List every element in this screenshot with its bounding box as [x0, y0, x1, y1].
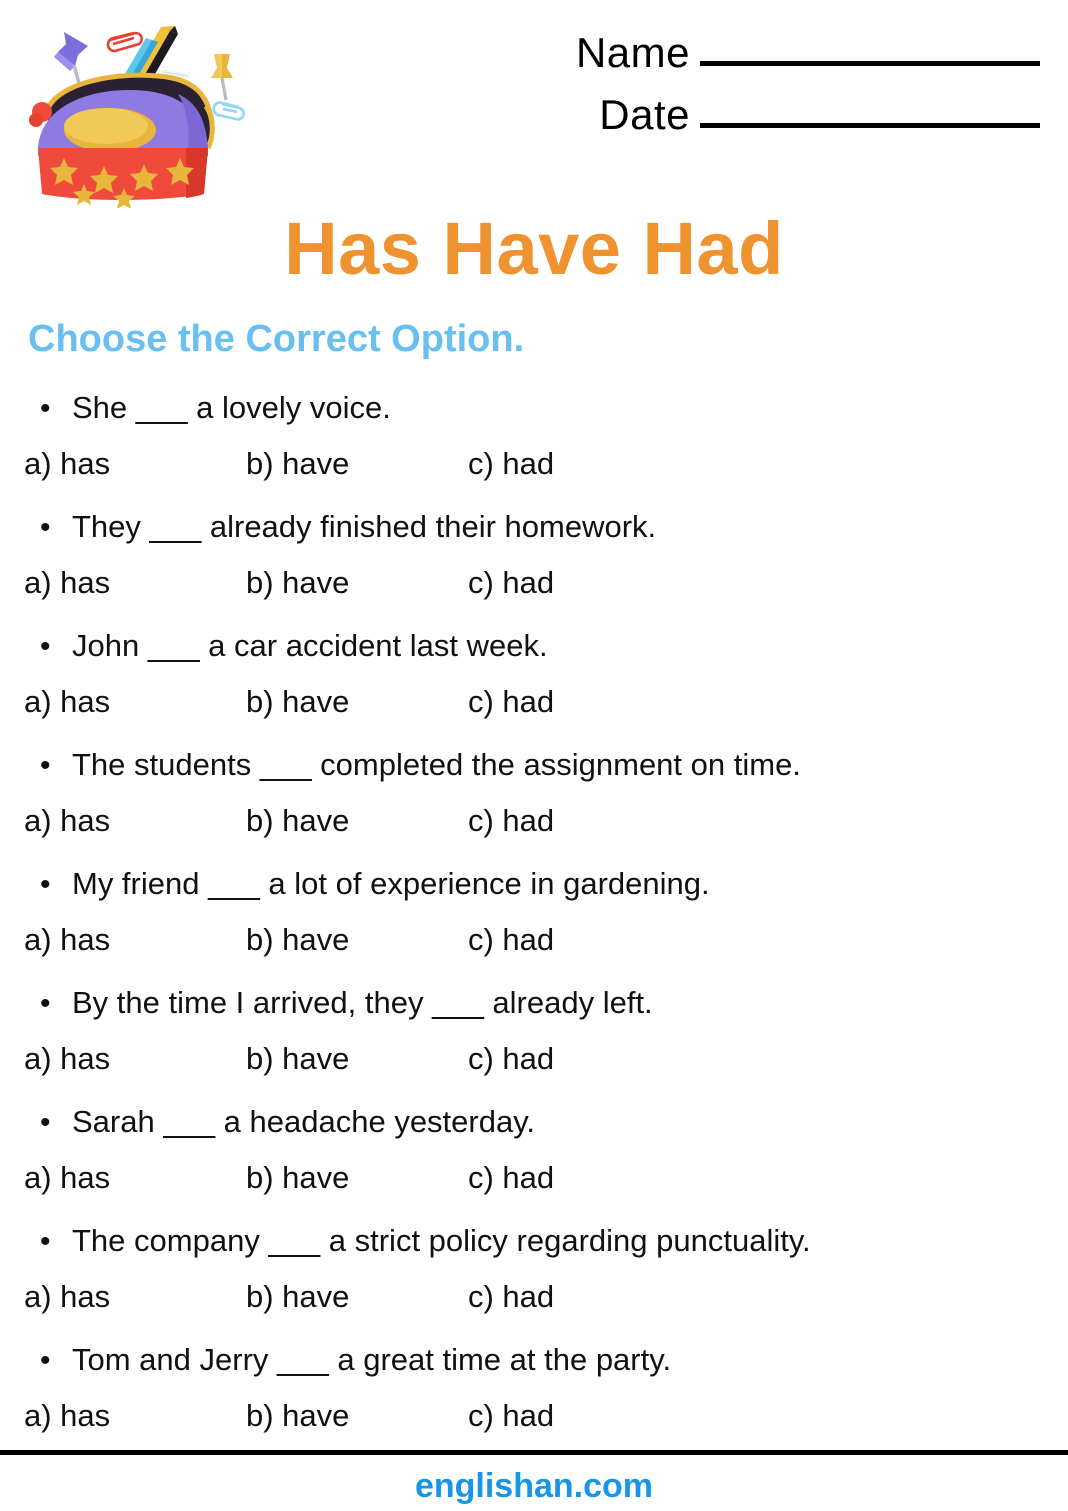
- bullet-icon: •: [40, 508, 72, 548]
- options-row: a) hasb) havec) had: [0, 1277, 1068, 1333]
- option-choice[interactable]: b) have: [246, 1277, 468, 1333]
- option-choice[interactable]: c) had: [468, 801, 690, 857]
- question-text: By the time I arrived, they ___ already …: [72, 983, 653, 1023]
- question-text: She ___ a lovely voice.: [72, 388, 391, 428]
- question-block: •My friend ___ a lot of experience in ga…: [0, 864, 1068, 983]
- bullet-icon: •: [40, 1222, 72, 1262]
- option-choice[interactable]: c) had: [468, 563, 690, 619]
- question-line: •John ___ a car accident last week.: [0, 626, 1068, 682]
- question-block: •By the time I arrived, they ___ already…: [0, 983, 1068, 1102]
- question-block: •She ___ a lovely voice.a) hasb) havec) …: [0, 388, 1068, 507]
- bullet-icon: •: [40, 389, 72, 429]
- question-text: They ___ already finished their homework…: [72, 507, 656, 547]
- question-line: •The students ___ completed the assignme…: [0, 745, 1068, 801]
- question-block: •The company ___ a strict policy regardi…: [0, 1221, 1068, 1340]
- option-choice[interactable]: a) has: [24, 1396, 246, 1452]
- option-choice[interactable]: a) has: [24, 1158, 246, 1214]
- bullet-icon: •: [40, 984, 72, 1024]
- bullet-icon: •: [40, 1103, 72, 1143]
- page-title: Has Have Had: [0, 206, 1068, 292]
- question-text: Tom and Jerry ___ a great time at the pa…: [72, 1340, 671, 1380]
- question-line: •The company ___ a strict policy regardi…: [0, 1221, 1068, 1277]
- name-field-row: Name: [520, 14, 1040, 76]
- option-choice[interactable]: b) have: [246, 1158, 468, 1214]
- question-block: •The students ___ completed the assignme…: [0, 745, 1068, 864]
- option-choice[interactable]: c) had: [468, 1158, 690, 1214]
- option-choice[interactable]: c) had: [468, 920, 690, 976]
- options-row: a) hasb) havec) had: [0, 1039, 1068, 1095]
- question-text: The company ___ a strict policy regardin…: [72, 1221, 811, 1261]
- options-row: a) hasb) havec) had: [0, 444, 1068, 500]
- option-choice[interactable]: a) has: [24, 1277, 246, 1333]
- bullet-icon: •: [40, 627, 72, 667]
- option-choice[interactable]: a) has: [24, 1039, 246, 1095]
- name-date-fields: Name Date: [520, 14, 1040, 138]
- question-block: •They ___ already finished their homewor…: [0, 507, 1068, 626]
- option-choice[interactable]: c) had: [468, 1039, 690, 1095]
- question-block: •Sarah ___ a headache yesterday.a) hasb)…: [0, 1102, 1068, 1221]
- option-choice[interactable]: a) has: [24, 444, 246, 500]
- site-credit[interactable]: englishan.com: [0, 1466, 1068, 1506]
- question-line: •She ___ a lovely voice.: [0, 388, 1068, 444]
- question-text: Sarah ___ a headache yesterday.: [72, 1102, 535, 1142]
- questions-list: •She ___ a lovely voice.a) hasb) havec) …: [0, 388, 1068, 1459]
- option-choice[interactable]: c) had: [468, 444, 690, 500]
- option-choice[interactable]: b) have: [246, 444, 468, 500]
- bullet-icon: •: [40, 746, 72, 786]
- question-block: •Tom and Jerry ___ a great time at the p…: [0, 1340, 1068, 1459]
- option-choice[interactable]: b) have: [246, 920, 468, 976]
- footer-divider: [0, 1450, 1068, 1455]
- options-row: a) hasb) havec) had: [0, 801, 1068, 857]
- paperclip-red-icon: [108, 33, 142, 51]
- option-choice[interactable]: c) had: [468, 1396, 690, 1452]
- question-text: My friend ___ a lot of experience in gar…: [72, 864, 710, 904]
- name-label: Name: [576, 30, 700, 76]
- option-choice[interactable]: c) had: [468, 682, 690, 738]
- pushpin-yellow-icon: [211, 54, 233, 100]
- option-choice[interactable]: a) has: [24, 920, 246, 976]
- option-choice[interactable]: c) had: [468, 1277, 690, 1333]
- option-choice[interactable]: b) have: [246, 1396, 468, 1452]
- question-line: •They ___ already finished their homewor…: [0, 507, 1068, 563]
- option-choice[interactable]: a) has: [24, 801, 246, 857]
- question-text: The students ___ completed the assignmen…: [72, 745, 801, 785]
- date-label: Date: [599, 92, 700, 138]
- bullet-icon: •: [40, 1341, 72, 1381]
- options-row: a) hasb) havec) had: [0, 682, 1068, 738]
- question-line: •By the time I arrived, they ___ already…: [0, 983, 1068, 1039]
- name-input-line[interactable]: [700, 61, 1040, 66]
- worksheet-header: Name Date: [0, 0, 1068, 200]
- date-input-line[interactable]: [700, 123, 1040, 128]
- option-choice[interactable]: b) have: [246, 682, 468, 738]
- bullet-icon: •: [40, 865, 72, 905]
- option-choice[interactable]: b) have: [246, 1039, 468, 1095]
- question-text: John ___ a car accident last week.: [72, 626, 548, 666]
- option-choice[interactable]: a) has: [24, 563, 246, 619]
- options-row: a) hasb) havec) had: [0, 1396, 1068, 1452]
- pushpin-purple-icon: [54, 32, 88, 87]
- option-choice[interactable]: b) have: [246, 563, 468, 619]
- question-line: •Tom and Jerry ___ a great time at the p…: [0, 1340, 1068, 1396]
- options-row: a) hasb) havec) had: [0, 920, 1068, 976]
- option-choice[interactable]: b) have: [246, 801, 468, 857]
- question-line: •Sarah ___ a headache yesterday.: [0, 1102, 1068, 1158]
- option-choice[interactable]: a) has: [24, 682, 246, 738]
- question-line: •My friend ___ a lot of experience in ga…: [0, 864, 1068, 920]
- question-block: •John ___ a car accident last week.a) ha…: [0, 626, 1068, 745]
- options-row: a) hasb) havec) had: [0, 563, 1068, 619]
- instructions-heading: Choose the Correct Option.: [28, 316, 524, 362]
- paperclip-blue-icon: [214, 102, 244, 119]
- pencil-case-illustration: [18, 8, 268, 208]
- date-field-row: Date: [520, 76, 1040, 138]
- options-row: a) hasb) havec) had: [0, 1158, 1068, 1214]
